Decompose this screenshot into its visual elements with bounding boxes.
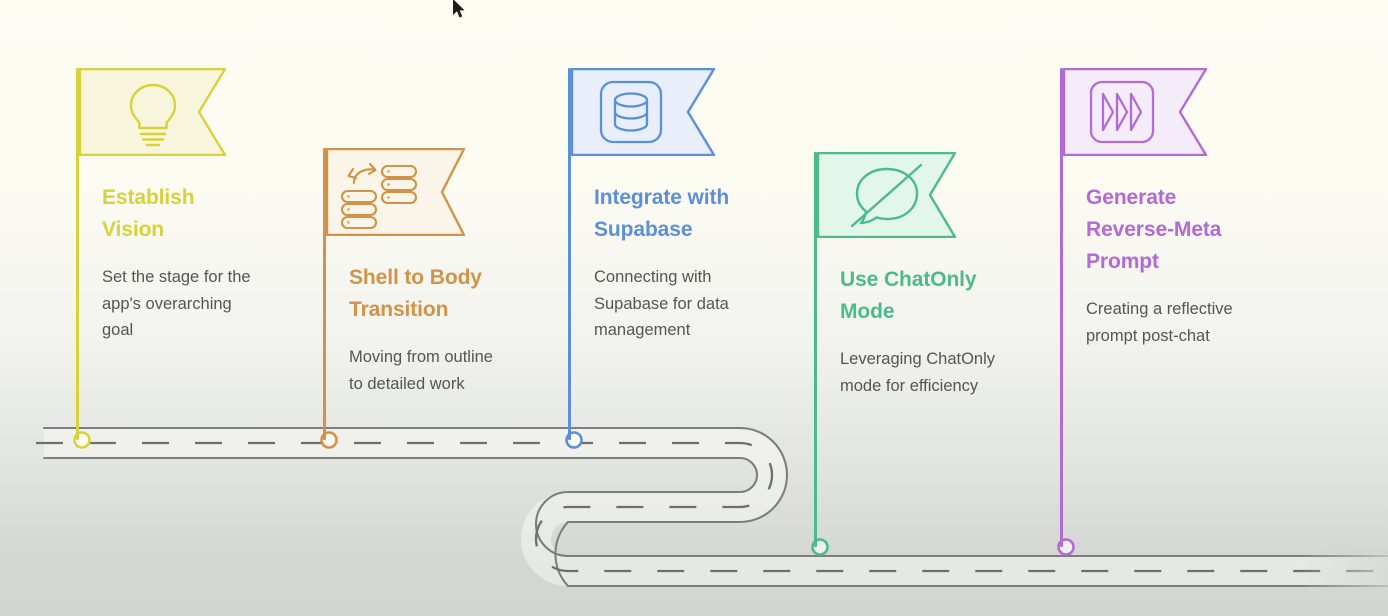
milestone-flag xyxy=(1063,68,1208,156)
milestone-title: Use ChatOnly Mode xyxy=(840,264,1050,328)
milestone-title: Generate Reverse-Meta Prompt xyxy=(1086,182,1296,278)
milestone-flag xyxy=(817,152,957,238)
milestone-use-chatonly-mode[interactable]: Use ChatOnly Mode Leveraging ChatOnly mo… xyxy=(814,152,1044,547)
mouse-pointer xyxy=(452,0,466,20)
milestone-title: Integrate with Supabase xyxy=(594,182,799,246)
milestone-description: Creating a reflective prompt post-chat xyxy=(1086,296,1296,349)
road-right-fade xyxy=(1300,548,1388,594)
milestone-description: Set the stage for the app's overarching … xyxy=(102,264,302,344)
milestone-establish-vision[interactable]: Establish Vision Set the stage for the a… xyxy=(76,68,306,440)
milestone-flag xyxy=(326,148,466,236)
milestone-shell-to-body-transition[interactable]: Shell to Body Transition Moving from out… xyxy=(323,148,553,440)
milestone-title: Establish Vision xyxy=(102,182,302,246)
roadmap-diagram: Establish Vision Set the stage for the a… xyxy=(0,0,1388,616)
milestone-generate-reverse-meta-prompt[interactable]: Generate Reverse-Meta Prompt Creating a … xyxy=(1060,68,1295,547)
milestone-integrate-with-supabase[interactable]: Integrate with Supabase Connecting with … xyxy=(568,68,798,440)
milestone-description: Leveraging ChatOnly mode for efficiency xyxy=(840,346,1050,399)
milestone-title: Shell to Body Transition xyxy=(349,262,554,326)
milestone-flag xyxy=(79,68,227,156)
milestone-description: Moving from outline to detailed work xyxy=(349,344,554,397)
milestone-flag xyxy=(571,68,716,156)
milestone-description: Connecting with Supabase for data manage… xyxy=(594,264,799,344)
